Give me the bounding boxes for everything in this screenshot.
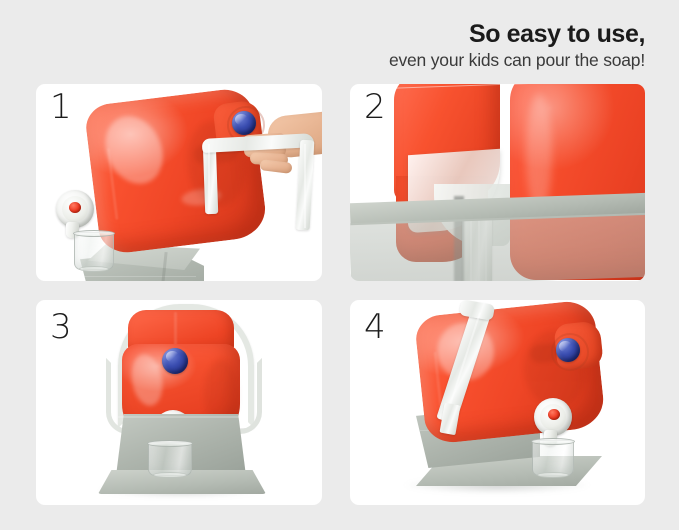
red-push-button [548, 409, 560, 420]
panel-number-2: 2 [364, 90, 386, 124]
scene-step-1 [36, 84, 322, 281]
cap-highlight [166, 351, 179, 362]
measuring-cup [532, 440, 574, 476]
measuring-cup [74, 232, 114, 270]
stand-highlight [84, 276, 196, 277]
cup-base [153, 472, 186, 478]
measuring-cup [148, 442, 192, 476]
strap-right-groove [304, 144, 306, 228]
panel-step-2: 2 [350, 84, 645, 281]
panel-step-1: 1 [36, 84, 322, 281]
cup-wall [148, 442, 192, 476]
red-push-button [69, 202, 81, 213]
cup-rim [531, 438, 575, 445]
scene-step-4 [350, 300, 645, 505]
panel-number-3: 3 [50, 310, 72, 344]
panel-step-3: 3 [36, 300, 322, 505]
headline-primary: So easy to use, [389, 20, 645, 48]
cup-base [537, 472, 569, 478]
cap-collar [551, 333, 589, 371]
panel-number-1: 1 [50, 90, 72, 124]
panel-number-4: 4 [364, 310, 386, 344]
cup-wall [532, 440, 574, 476]
infographic-stage: So easy to use, even your kids can pour … [0, 0, 679, 530]
strap-left-groove [208, 144, 210, 210]
stand-lower [350, 213, 645, 281]
cup-rim [147, 440, 193, 447]
scene-step-3 [36, 300, 322, 505]
blue-cap [162, 348, 188, 374]
cup-base [79, 266, 109, 272]
cup-rim [73, 230, 115, 237]
cup-wall [74, 232, 114, 270]
stand-highlight [118, 416, 244, 418]
headline-block: So easy to use, even your kids can pour … [389, 20, 645, 71]
headline-secondary: even your kids can pour the soap! [389, 50, 645, 71]
panel-step-4: 4 [350, 300, 645, 505]
scene-step-2 [350, 84, 645, 281]
